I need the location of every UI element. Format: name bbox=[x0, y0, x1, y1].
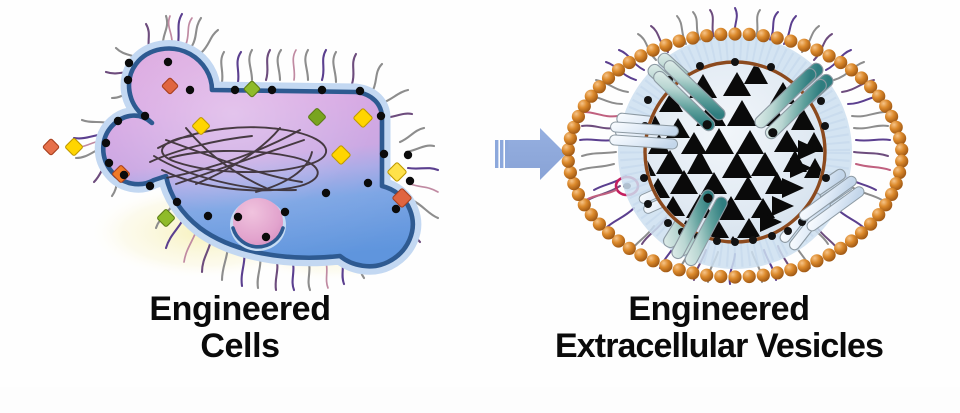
lipid-bead bbox=[728, 270, 741, 283]
lipid-bead bbox=[623, 56, 636, 69]
surface-dot bbox=[231, 86, 239, 94]
surface-dot bbox=[234, 213, 242, 221]
caption-left-line1: Engineered bbox=[149, 290, 330, 328]
lipid-bead bbox=[700, 269, 713, 282]
lipid-bead bbox=[798, 259, 811, 272]
lipid-bead bbox=[634, 49, 647, 62]
surface-dot bbox=[125, 59, 133, 67]
lipid-bead bbox=[895, 143, 908, 156]
surface-dot bbox=[164, 58, 172, 66]
lipid-bead bbox=[700, 29, 713, 42]
caption-left-line2: Cells bbox=[20, 328, 460, 365]
lipid-bead bbox=[798, 39, 811, 52]
surface-dot bbox=[114, 117, 122, 125]
lipid-bead bbox=[784, 35, 797, 48]
inner-dot bbox=[713, 237, 721, 245]
lipid-bead bbox=[562, 155, 575, 168]
lipid-bead bbox=[757, 29, 770, 42]
inner-dot bbox=[822, 174, 830, 182]
lipid-bead bbox=[743, 28, 756, 41]
lipid-bead bbox=[714, 270, 727, 283]
lipid-bead bbox=[686, 266, 699, 279]
inner-dot bbox=[640, 174, 648, 182]
arrow-stripe-2 bbox=[500, 140, 503, 168]
surface-dot bbox=[262, 233, 270, 241]
inner-dot bbox=[821, 122, 829, 130]
lipid-bead bbox=[757, 269, 770, 282]
lipid-bead bbox=[659, 39, 672, 52]
lipid-bead bbox=[834, 242, 847, 255]
surface-dot bbox=[318, 86, 326, 94]
lipid-bead bbox=[834, 56, 847, 69]
lipid-bead bbox=[771, 31, 784, 44]
receptor-diamond-orange bbox=[43, 139, 60, 156]
inner-dot bbox=[731, 238, 739, 246]
surface-dot bbox=[124, 76, 132, 84]
inner-dot bbox=[784, 227, 792, 235]
lipid-bead bbox=[771, 266, 784, 279]
inner-dot bbox=[731, 58, 739, 66]
inner-dot bbox=[767, 63, 775, 71]
surface-dot bbox=[173, 198, 181, 206]
surface-dot bbox=[102, 139, 110, 147]
surface-dot bbox=[281, 208, 289, 216]
lipid-bead bbox=[623, 242, 636, 255]
inner-dot bbox=[817, 97, 825, 105]
surface-dot bbox=[105, 159, 113, 167]
receptor-diamond-yellow bbox=[65, 138, 83, 156]
surface-dot bbox=[392, 205, 400, 213]
surface-dot bbox=[186, 86, 194, 94]
lipid-bead bbox=[743, 270, 756, 283]
inner-dot bbox=[696, 62, 704, 70]
surface-dot bbox=[268, 86, 276, 94]
right-panel-caption: Engineered Extracellular Vesicles bbox=[480, 291, 958, 364]
lipid-bead bbox=[634, 248, 647, 261]
cropped-bottom-edge bbox=[0, 387, 960, 413]
surface-dot bbox=[322, 189, 330, 197]
surface-dot bbox=[406, 177, 414, 185]
lipid-bead bbox=[784, 263, 797, 276]
surface-dot bbox=[380, 150, 388, 158]
inner-dot bbox=[749, 236, 757, 244]
lipid-bead bbox=[562, 143, 575, 156]
surface-dot bbox=[204, 212, 212, 220]
lipid-bead bbox=[612, 63, 625, 76]
lipid-bead bbox=[647, 254, 660, 267]
lipid-bead bbox=[823, 49, 836, 62]
surface-dot bbox=[141, 112, 149, 120]
inner-dot bbox=[768, 232, 776, 240]
inner-dot bbox=[664, 219, 672, 227]
surface-dot bbox=[404, 151, 412, 159]
lipid-bead bbox=[810, 254, 823, 267]
lipid-bead bbox=[895, 155, 908, 168]
lipid-bead bbox=[810, 44, 823, 57]
lipid-bead bbox=[728, 27, 741, 40]
left-panel-caption: Engineered Cells bbox=[20, 291, 460, 364]
lipid-bead bbox=[823, 248, 836, 261]
surface-dot bbox=[120, 171, 128, 179]
inner-dot bbox=[644, 200, 652, 208]
lipid-bead bbox=[673, 263, 686, 276]
figure-canvas: Engineered Cells Engineered Extracellula… bbox=[0, 0, 960, 413]
lipid-bead bbox=[686, 31, 699, 44]
caption-right-line1: Engineered bbox=[480, 291, 958, 328]
engineered-cell-illustration bbox=[43, 14, 438, 290]
surface-dot bbox=[364, 179, 372, 187]
lipid-bead bbox=[659, 259, 672, 272]
arrow-stripe-3 bbox=[505, 140, 508, 168]
lipid-bead bbox=[564, 166, 577, 179]
lipid-bead bbox=[714, 28, 727, 41]
process-arrow bbox=[495, 128, 566, 180]
lipid-bead bbox=[845, 234, 858, 247]
arrow-stripe-1 bbox=[495, 140, 498, 168]
lipid-bead bbox=[647, 44, 660, 57]
lipid-bead bbox=[673, 35, 686, 48]
surface-dot bbox=[146, 182, 154, 190]
surface-dot bbox=[377, 112, 385, 120]
arrow-head-body bbox=[508, 128, 566, 180]
surface-dot bbox=[356, 87, 364, 95]
engineered-extracellular-vesicle-illustration bbox=[562, 8, 909, 284]
inner-dot bbox=[644, 96, 652, 104]
lipid-bead bbox=[893, 132, 906, 145]
caption-right-line2: Extracellular Vesicles bbox=[480, 328, 958, 365]
